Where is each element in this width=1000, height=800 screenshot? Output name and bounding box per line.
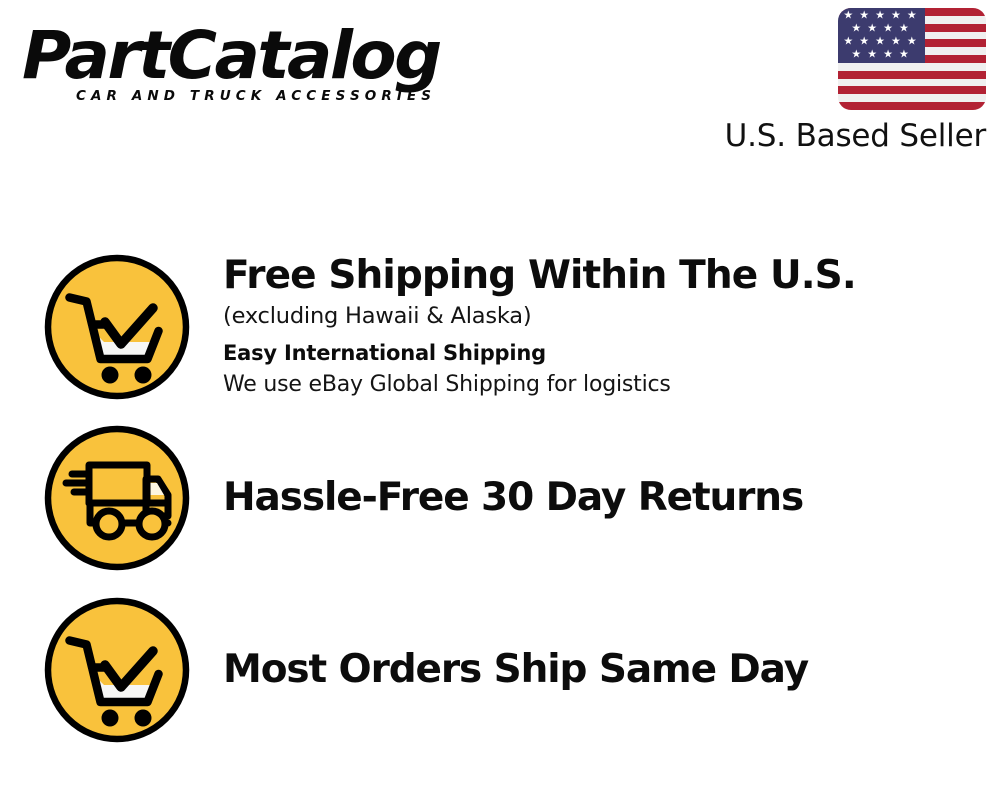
flag-stripe [838, 63, 986, 71]
flag-star: ★ [867, 49, 877, 60]
shopping-cart-check-icon [42, 252, 192, 402]
flag-star: ★ [899, 24, 909, 35]
feature-row: Most Orders Ship Same Day [0, 590, 1000, 750]
feature-sub-note: We use eBay Global Shipping for logistic… [223, 369, 1000, 401]
feature-row: Free Shipping Within The U.S. (excluding… [0, 247, 1000, 407]
feature-text-block: Free Shipping Within The U.S. (excluding… [223, 253, 1000, 401]
flag-star: ★ [907, 37, 917, 48]
flag-star: ★ [883, 24, 893, 35]
flag-stripe [838, 79, 986, 87]
us-based-seller-label: U.S. Based Seller [716, 119, 986, 153]
feature-heading: Free Shipping Within The U.S. [223, 253, 1000, 299]
flag-canton: ★★★★★★★★★★★★★★★★★★ [838, 8, 925, 63]
feature-sub-heading: Easy International Shipping [223, 337, 1000, 369]
flag-star: ★ [859, 11, 869, 22]
flag-star: ★ [875, 11, 885, 22]
flag-stripe [838, 102, 986, 110]
flag-star: ★ [867, 24, 877, 35]
flag-star: ★ [859, 37, 869, 48]
delivery-truck-icon [42, 423, 192, 573]
brand-wordmark: PartCatalog [22, 22, 501, 90]
feature-note: (excluding Hawaii & Alaska) [223, 299, 1000, 333]
flag-star: ★ [891, 11, 901, 22]
feature-text-block: Hassle-Free 30 Day Returns [223, 475, 1000, 521]
feature-text-block: Most Orders Ship Same Day [223, 647, 1000, 693]
flag-stripe [838, 94, 986, 102]
flag-star: ★ [851, 49, 861, 60]
flag-stripe [838, 86, 986, 94]
feature-row: Hassle-Free 30 Day Returns [0, 418, 1000, 578]
page-header: PartCatalog CAR AND TRUCK ACCESSORIES ★★… [0, 0, 1000, 175]
brand-logo[interactable]: PartCatalog CAR AND TRUCK ACCESSORIES [22, 22, 492, 104]
flag-star: ★ [907, 11, 917, 22]
us-flag-icon: ★★★★★★★★★★★★★★★★★★ [838, 8, 986, 110]
flag-stripe [838, 71, 986, 79]
us-based-seller-badge: ★★★★★★★★★★★★★★★★★★ U.S. Based Seller [716, 8, 986, 153]
feature-heading: Most Orders Ship Same Day [223, 647, 1000, 693]
flag-star: ★ [843, 11, 853, 22]
flag-star: ★ [899, 49, 909, 60]
flag-star: ★ [891, 37, 901, 48]
flag-star: ★ [875, 37, 885, 48]
feature-heading: Hassle-Free 30 Day Returns [223, 475, 1000, 521]
flag-star: ★ [883, 49, 893, 60]
shopping-cart-check-icon [42, 595, 192, 745]
flag-star: ★ [851, 24, 861, 35]
flag-star: ★ [843, 37, 853, 48]
